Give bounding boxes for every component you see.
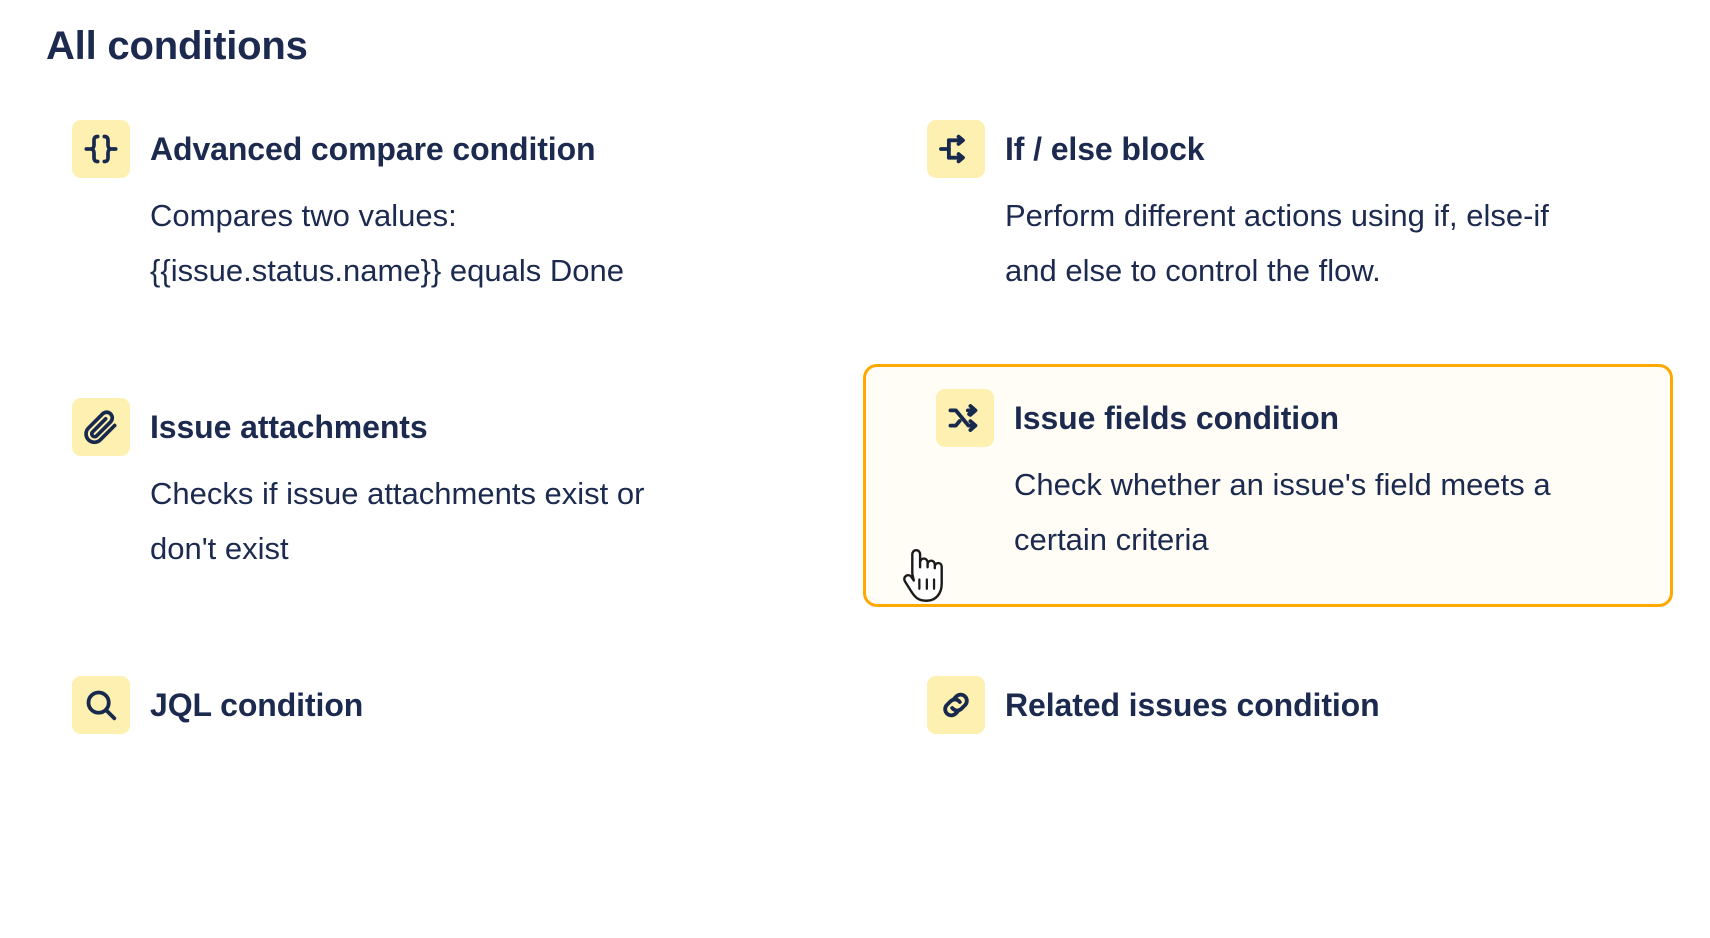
all-conditions-panel: All conditions Advanced compare conditio… <box>0 0 1710 714</box>
condition-card-header: Related issues condition <box>927 676 1684 734</box>
condition-title: If / else block <box>1005 120 1204 178</box>
condition-description: Checks if issue attachments exist or don… <box>150 466 710 576</box>
condition-description: Perform different actions using if, else… <box>1005 188 1565 298</box>
grid-cell: Related issues condition <box>855 660 1710 938</box>
condition-card-header: Issue attachments <box>72 398 829 456</box>
condition-card-issue-fields-condition[interactable]: Issue fields condition Check whether an … <box>863 364 1673 607</box>
curly-braces-icon <box>72 120 130 178</box>
condition-title: JQL condition <box>150 676 363 734</box>
grid-cell: Advanced compare condition Compares two … <box>0 104 855 382</box>
condition-title: Issue attachments <box>150 398 428 456</box>
conditions-grid: Advanced compare condition Compares two … <box>0 104 1710 938</box>
page-title: All conditions <box>46 22 308 70</box>
link-chain-icon <box>927 676 985 734</box>
grid-cell: If / else block Perform different action… <box>855 104 1710 382</box>
condition-title: Issue fields condition <box>1014 389 1339 447</box>
paperclip-icon <box>72 398 130 456</box>
shuffle-arrows-icon <box>936 389 994 447</box>
condition-card-jql-condition[interactable]: JQL condition <box>0 660 855 762</box>
condition-card-header: If / else block <box>927 120 1684 178</box>
condition-card-advanced-compare-condition[interactable]: Advanced compare condition Compares two … <box>0 104 855 316</box>
condition-description: Check whether an issue's field meets a c… <box>1014 457 1634 567</box>
grid-cell: JQL condition <box>0 660 855 938</box>
condition-card-issue-attachments[interactable]: Issue attachments Checks if issue attach… <box>0 382 855 594</box>
condition-card-header: Advanced compare condition <box>72 120 829 178</box>
condition-card-if-else-block[interactable]: If / else block Perform different action… <box>855 104 1710 316</box>
condition-title: Advanced compare condition <box>150 120 595 178</box>
condition-title: Related issues condition <box>1005 676 1380 734</box>
magnifying-glass-icon <box>72 676 130 734</box>
grid-cell: Issue attachments Checks if issue attach… <box>0 382 855 660</box>
condition-description: Compares two values: {{issue.status.name… <box>150 188 710 298</box>
condition-card-header: JQL condition <box>72 676 829 734</box>
condition-card-header: Issue fields condition <box>936 389 1644 447</box>
condition-card-related-issues-condition[interactable]: Related issues condition <box>855 660 1710 762</box>
grid-cell: Issue fields condition Check whether an … <box>855 382 1710 660</box>
if-else-branch-icon <box>927 120 985 178</box>
